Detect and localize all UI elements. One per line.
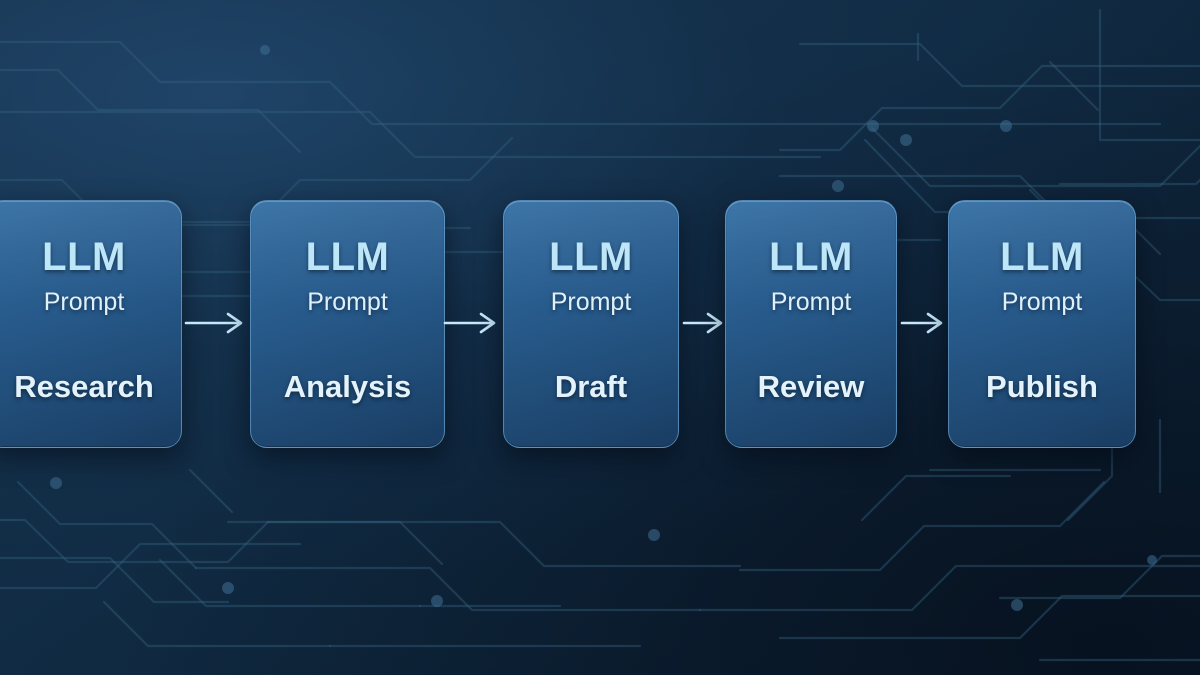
step-prompt-label: Prompt (1002, 290, 1083, 315)
pipeline-step-review[interactable]: LLM Prompt Review (725, 200, 897, 448)
pipeline-step-draft[interactable]: LLM Prompt Draft (503, 200, 679, 448)
step-name-label: Analysis (284, 371, 412, 402)
step-llm-label: LLM (549, 237, 633, 277)
arrow-review-to-publish-icon (900, 310, 946, 336)
step-prompt-label: Prompt (44, 290, 125, 315)
arrow-draft-to-review-icon (682, 310, 726, 336)
pipeline-step-research[interactable]: LLM Prompt Research (0, 200, 182, 448)
arrow-research-to-analysis-icon (184, 310, 246, 336)
step-prompt-label: Prompt (771, 290, 852, 315)
diagram-canvas: LLM Prompt Research LLM Prompt Analysis (0, 0, 1200, 675)
step-prompt-label: Prompt (307, 290, 388, 315)
step-prompt-label: Prompt (551, 290, 632, 315)
step-name-label: Review (758, 371, 865, 402)
step-llm-label: LLM (306, 237, 390, 277)
pipeline-flow: LLM Prompt Research LLM Prompt Analysis (0, 0, 1200, 675)
step-name-label: Research (14, 371, 154, 402)
step-name-label: Publish (986, 371, 1098, 402)
pipeline-step-publish[interactable]: LLM Prompt Publish (948, 200, 1136, 448)
step-llm-label: LLM (42, 237, 126, 277)
step-llm-label: LLM (769, 237, 853, 277)
step-llm-label: LLM (1000, 237, 1084, 277)
arrow-analysis-to-draft-icon (443, 310, 499, 336)
step-name-label: Draft (555, 371, 627, 402)
pipeline-step-analysis[interactable]: LLM Prompt Analysis (250, 200, 445, 448)
